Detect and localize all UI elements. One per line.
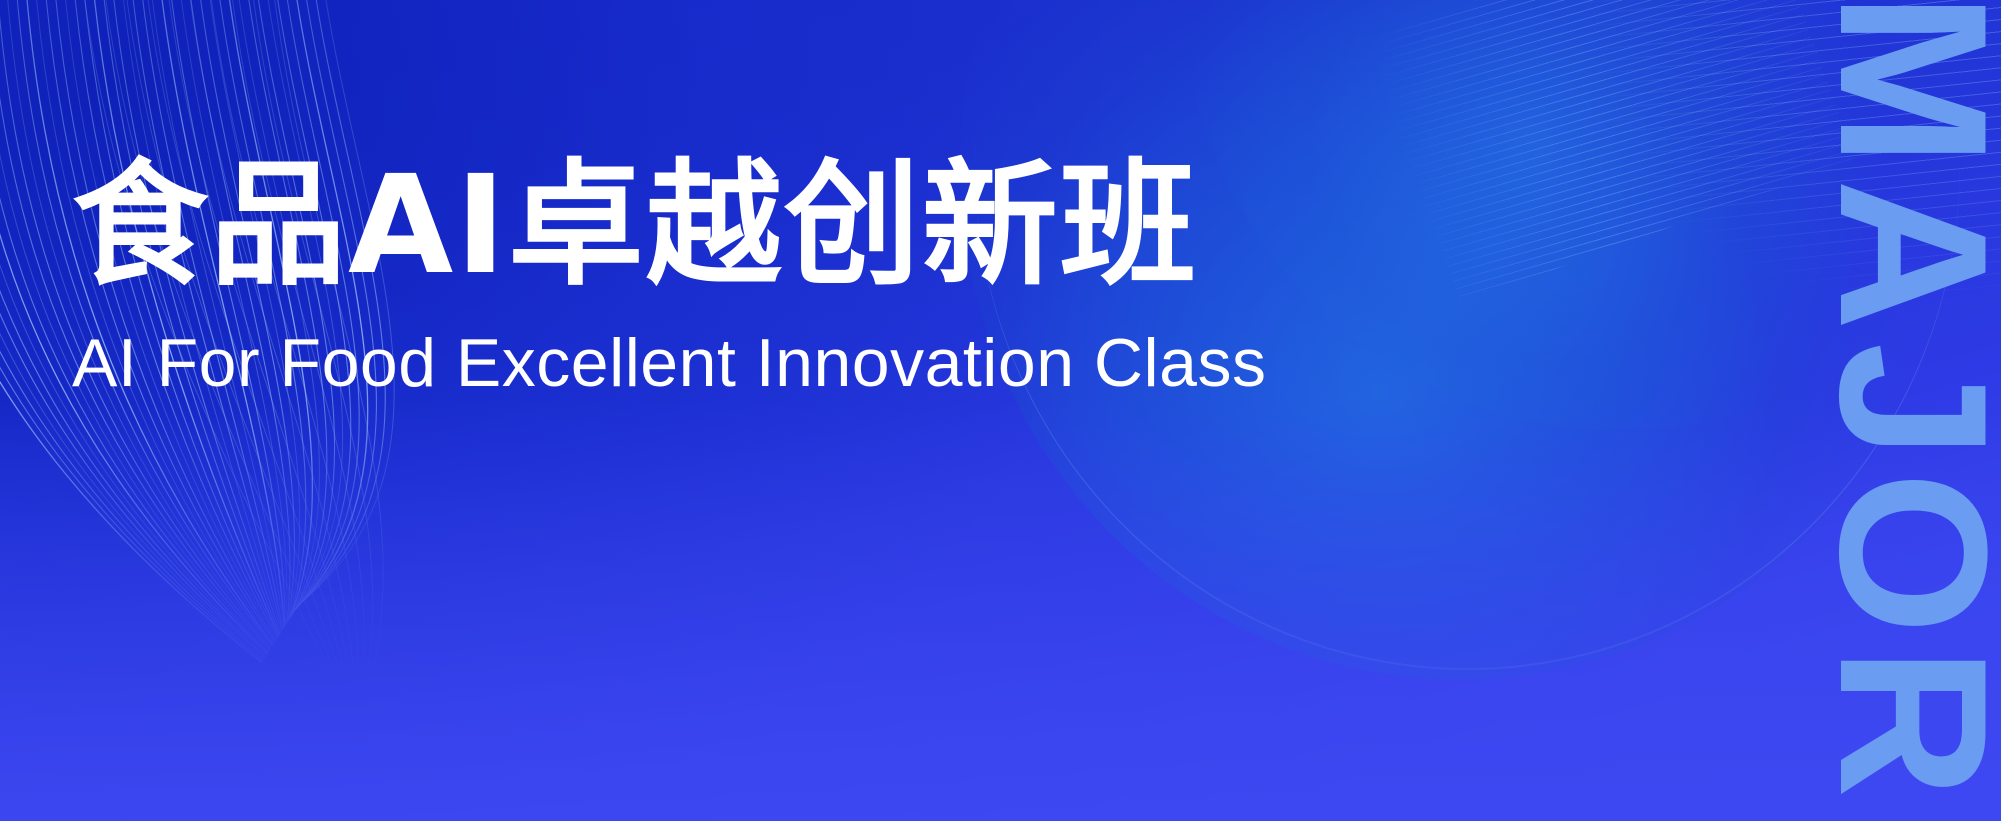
major-watermark-text: MAJOR [1808,0,1991,810]
background-wash-bottom [0,401,2001,821]
background-wash-left [0,0,1100,821]
page-title: 食品AI卓越创新班 [72,150,1472,302]
banner-text-block: 食品AI卓越创新班 AI For Food Excellent Innovati… [72,150,1472,401]
major-watermark: MAJOR [1741,0,1991,821]
diagonal-hatch-lines [1459,0,2001,457]
page-subtitle: AI For Food Excellent Innovation Class [72,326,1472,401]
course-banner: 食品AI卓越创新班 AI For Food Excellent Innovati… [0,0,2001,821]
